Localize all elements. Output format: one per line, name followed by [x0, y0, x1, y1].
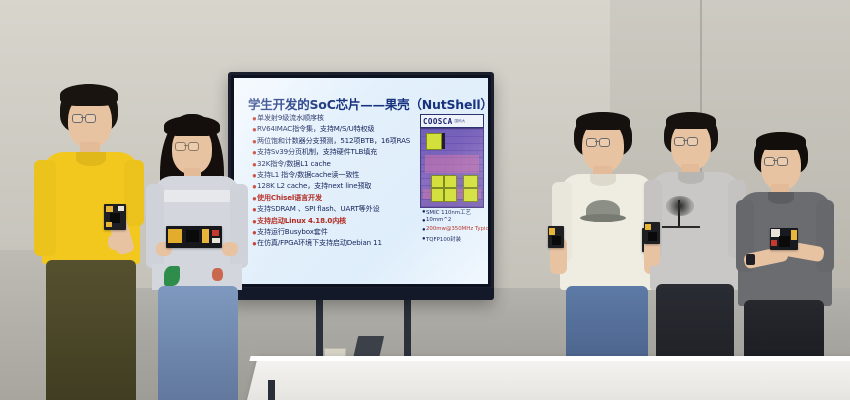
glasses-lens-left: [764, 157, 775, 166]
list-item: ●单发射9级流水顺序核: [252, 114, 420, 124]
shirt-collar: [678, 172, 704, 184]
chip-board-held: [104, 204, 126, 230]
bullet-text: 支持Sv39分页机制，支持硬件TLB填充: [257, 148, 377, 155]
bullet-text: 128K L2 cache，支持next line预取: [257, 182, 371, 189]
presentation-slide: 学生开发的SoC芯片——果壳（NutShell） ●单发射9级流水顺序核 ●RV…: [234, 78, 488, 284]
shirt-graphic-hat-brim: [580, 214, 626, 222]
list-item: ●支持SDRAM 、SPI flash、UART等外设: [252, 205, 420, 215]
shirt-collar: [590, 174, 616, 186]
chip-board-held-left: [548, 226, 564, 248]
board-component: [645, 224, 651, 230]
chip-board-held: [644, 222, 660, 244]
hair-front: [756, 132, 806, 150]
list-item: ●SMIC 110nm工艺: [422, 208, 486, 216]
board-chip: [186, 230, 199, 242]
die-macro-block: [444, 175, 457, 188]
arm-left: [34, 160, 56, 256]
die-macro-block: [431, 175, 444, 188]
wall-mounted-tv: 学生开发的SoC芯片——果壳（NutShell） ●单发射9级流水顺序核 ●RV…: [228, 72, 494, 300]
shirt-graphic-tree-canopy: [666, 196, 694, 216]
glasses-lens-right: [599, 138, 610, 147]
list-item: ●使用Chisel语言开发: [252, 194, 420, 204]
board-component: [212, 230, 219, 236]
glasses: [674, 137, 708, 145]
list-item: ●在仿真/FPGA环境下支持启动Debian 11: [252, 239, 420, 249]
list-item: ●200mw@350MHz Typical: [422, 226, 486, 234]
glasses: [175, 142, 209, 150]
hand: [108, 234, 126, 250]
board-component: [202, 229, 209, 243]
glasses-lens-right: [687, 137, 698, 146]
slide-title: 学生开发的SoC芯片——果壳（NutShell）: [248, 94, 486, 113]
tv-screen: 学生开发的SoC芯片——果壳（NutShell） ●单发射9级流水顺序核 ●RV…: [234, 78, 488, 284]
list-item: ●支持L1 指令/数据cache读一致性: [252, 171, 420, 181]
bullet-text: 支持SDRAM 、SPI flash、UART等外设: [257, 205, 380, 212]
table-leg: [268, 380, 275, 400]
die-macro-block: [444, 188, 457, 202]
bullet-text: 使用Chisel语言开发: [257, 194, 322, 201]
hand-right: [222, 242, 238, 256]
torso-shirt: [560, 174, 654, 290]
chip-spec-list: ●SMIC 110nm工艺 ●10mm^2 ●200mw@350MHz Typi…: [422, 208, 486, 244]
list-item: ●10mm^2: [422, 217, 486, 225]
person-1: [24, 84, 154, 400]
shirt-collar: [768, 192, 794, 204]
list-item: ●支持启动Linux 4.18.0内核: [252, 217, 420, 227]
bullet-text: 在仿真/FPGA环境下支持启动Debian 11: [257, 239, 382, 246]
board-component: [118, 206, 124, 211]
chip-board-held: [770, 228, 798, 250]
legs-jeans: [158, 286, 238, 400]
glasses-lens-left: [586, 138, 597, 147]
legs-trousers: [46, 260, 136, 400]
die-macro-block: [426, 133, 442, 150]
spec-text: 200mw@350MHz Typical: [426, 226, 488, 232]
torso-shirt: [650, 172, 740, 290]
spec-text: TQFP100封装: [426, 235, 461, 243]
hair-front: [164, 116, 220, 136]
conference-table: [243, 358, 850, 400]
bullet-text: 支持运行Busybox套件: [257, 228, 328, 235]
wristwatch: [746, 254, 755, 265]
board-component: [212, 238, 220, 243]
die-macro-block: [431, 188, 444, 202]
slide-bullet-list: ●单发射9级流水顺序核 ●RV64IMAC指令集，支持M/S/U特权级 ●两位饱…: [252, 114, 420, 251]
glasses: [72, 114, 108, 122]
bullet-text: 支持启动Linux 4.18.0内核: [257, 217, 346, 224]
list-item: ●支持Sv39分页机制，支持硬件TLB填充: [252, 148, 420, 158]
glasses-lens-left: [674, 137, 685, 146]
bullet-text: RV64IMAC指令集，支持M/S/U特权级: [257, 125, 374, 132]
person-2: [138, 114, 256, 400]
development-board-held: [166, 226, 222, 248]
board-component: [168, 229, 182, 243]
logo-wordmark: COOSCA: [421, 117, 453, 126]
glasses-lens-left: [175, 142, 186, 151]
die-macro-block: [463, 188, 478, 202]
spec-text: 10mm^2: [426, 217, 451, 223]
glasses-lens-right: [85, 114, 96, 123]
photo-scene: 学生开发的SoC芯片——果壳（NutShell） ●单发射9级流水顺序核 ●RV…: [0, 0, 850, 400]
board-component: [791, 230, 797, 240]
list-item: ●32K指令/数据L1 cache: [252, 160, 420, 170]
board-chip: [648, 232, 657, 241]
die-macro-block: [463, 175, 478, 188]
board-component: [771, 240, 777, 246]
glasses: [764, 157, 798, 165]
bullet-text: 单发射9级流水顺序核: [257, 114, 324, 121]
spec-text: SMIC 110nm工艺: [426, 208, 471, 216]
shirt-collar: [76, 152, 106, 166]
list-item: ●支持运行Busybox套件: [252, 228, 420, 238]
glasses-lens-right: [777, 157, 788, 166]
bullet-text: 两位饱和计数器分支预测，512项BTB，16项RAS: [257, 137, 410, 144]
bullet-text: 32K指令/数据L1 cache: [257, 160, 331, 167]
shirt-graphic-ground-line: [662, 226, 700, 228]
shirt-graphic-crocodile: [164, 266, 180, 286]
glasses: [586, 138, 620, 146]
list-item: ●128K L2 cache，支持next line预取: [252, 182, 420, 192]
glasses-lens-left: [72, 114, 83, 123]
bullet-text: 支持L1 指令/数据cache读一致性: [257, 171, 359, 178]
table-edge: [249, 356, 850, 361]
tv-bottom-bezel: [228, 288, 494, 300]
board-component: [106, 222, 112, 227]
logo-subtitle: 国科大: [453, 119, 466, 124]
dress-ruffle: [160, 190, 234, 202]
list-item: ●TQFP100封装: [422, 235, 486, 243]
list-item: ●两位饱和计数器分支预测，512项BTB，16项RAS: [252, 137, 420, 147]
glasses-lens-right: [188, 142, 199, 151]
board-chip: [779, 236, 790, 247]
die-region: [425, 155, 479, 173]
board-chip: [552, 236, 561, 245]
chip-die-photo: [420, 128, 484, 208]
shirt-graphic-small: [212, 268, 223, 281]
board-component: [549, 228, 555, 235]
list-item: ●RV64IMAC指令集，支持M/S/U特权级: [252, 125, 420, 135]
board-component: [106, 206, 113, 212]
hair-front: [666, 112, 716, 129]
hair-front: [576, 112, 630, 130]
lab-logo: COOSCA 国科大: [420, 114, 484, 128]
hair-front: [60, 84, 118, 106]
